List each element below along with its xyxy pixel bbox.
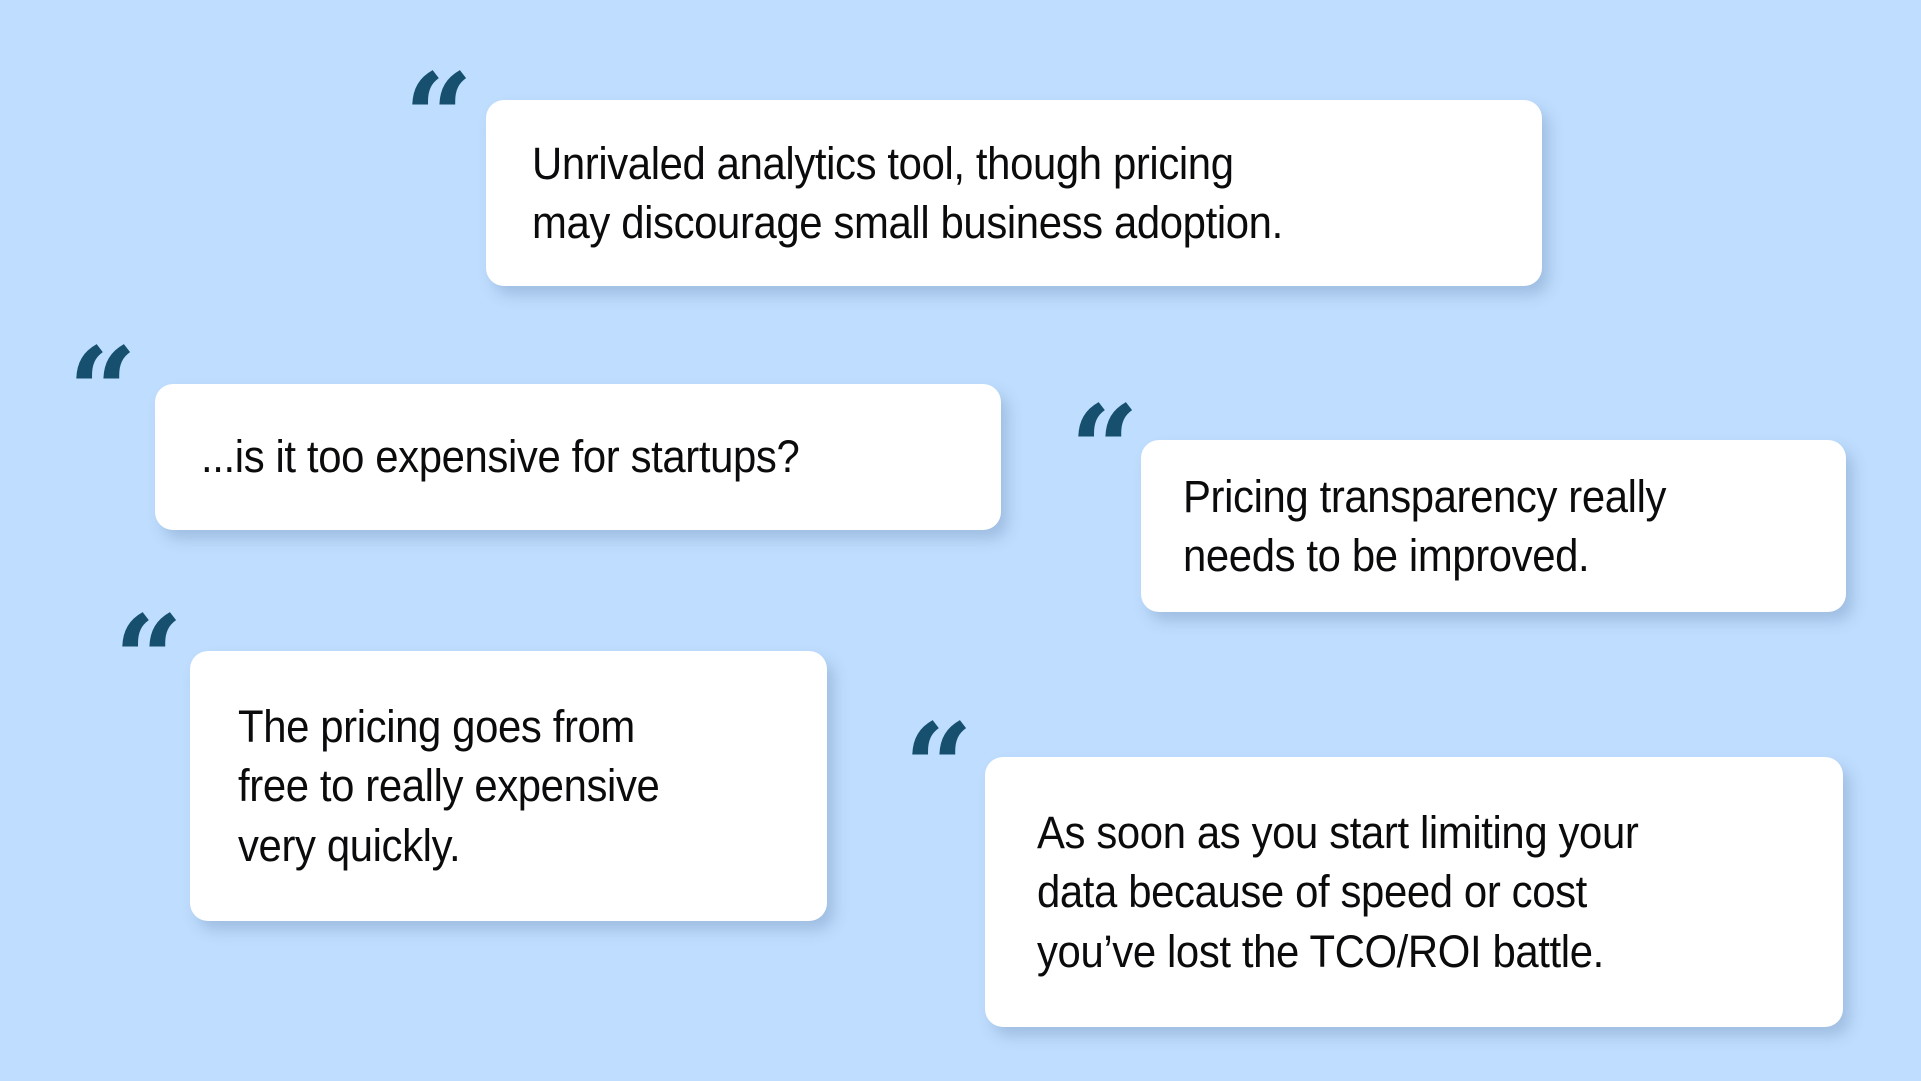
quote-card[interactable]: As soon as you start limiting your data … bbox=[985, 757, 1843, 1027]
quote-text: As soon as you start limiting your data … bbox=[1037, 803, 1638, 981]
quote-item-tco-roi-battle: “ As soon as you start limiting your dat… bbox=[0, 0, 1921, 1060]
quote-board: “ Unrivaled analytics tool, though prici… bbox=[0, 0, 1921, 1081]
opening-quote-icon: “ bbox=[904, 708, 971, 828]
